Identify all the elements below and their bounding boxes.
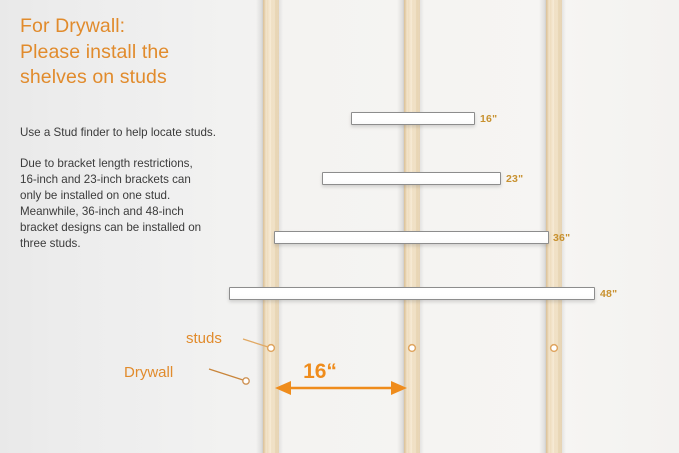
headline-line-3: shelves on studs [20, 65, 270, 91]
headline-line-1: For Drywall: [20, 14, 270, 40]
body-paragraph-2: Due to bracket length restrictions, 16-i… [20, 156, 282, 253]
headline: For Drywall: Please install the shelves … [20, 14, 270, 91]
shelf-bar-36 [274, 231, 549, 244]
body-paragraph-2-line-2: 16-inch and 23-inch brackets can [20, 172, 282, 188]
stud-spacing-label: 16“ [303, 360, 337, 384]
drywall-marker-dot [243, 378, 249, 384]
stud-right-shadow [420, 0, 424, 453]
studs-label: studs [186, 330, 222, 347]
body-paragraph-2-line-6: three studs. [20, 236, 282, 252]
shelf-bar-23 [322, 172, 501, 185]
body-paragraph-2-line-3: only be installed on one stud. [20, 188, 282, 204]
stud-3 [546, 0, 562, 453]
shelf-bar-16 [351, 112, 475, 125]
diagram-canvas: For Drywall: Please install the shelves … [0, 0, 679, 453]
shelf-label-16: 16" [480, 113, 497, 125]
drywall-leader-line [209, 369, 243, 380]
body-paragraph-1: Use a Stud finder to help locate studs. [20, 125, 280, 141]
body-paragraph-2-line-5: bracket designs can be installed on [20, 220, 282, 236]
shelf-label-48: 48" [600, 288, 617, 300]
stud-left-shadow [397, 0, 404, 453]
shelf-label-36: 36" [553, 232, 570, 244]
stud-left-shadow [539, 0, 546, 453]
body-paragraph-2-line-4: Meanwhile, 36-inch and 48-inch [20, 204, 282, 220]
shelf-label-23: 23" [506, 173, 523, 185]
shelf-bar-48 [229, 287, 595, 300]
body-paragraph-2-line-1: Due to bracket length restrictions, [20, 156, 282, 172]
drywall-label: Drywall [124, 364, 173, 381]
stud-2 [404, 0, 420, 453]
headline-line-2: Please install the [20, 40, 270, 66]
stud-right-shadow [562, 0, 566, 453]
